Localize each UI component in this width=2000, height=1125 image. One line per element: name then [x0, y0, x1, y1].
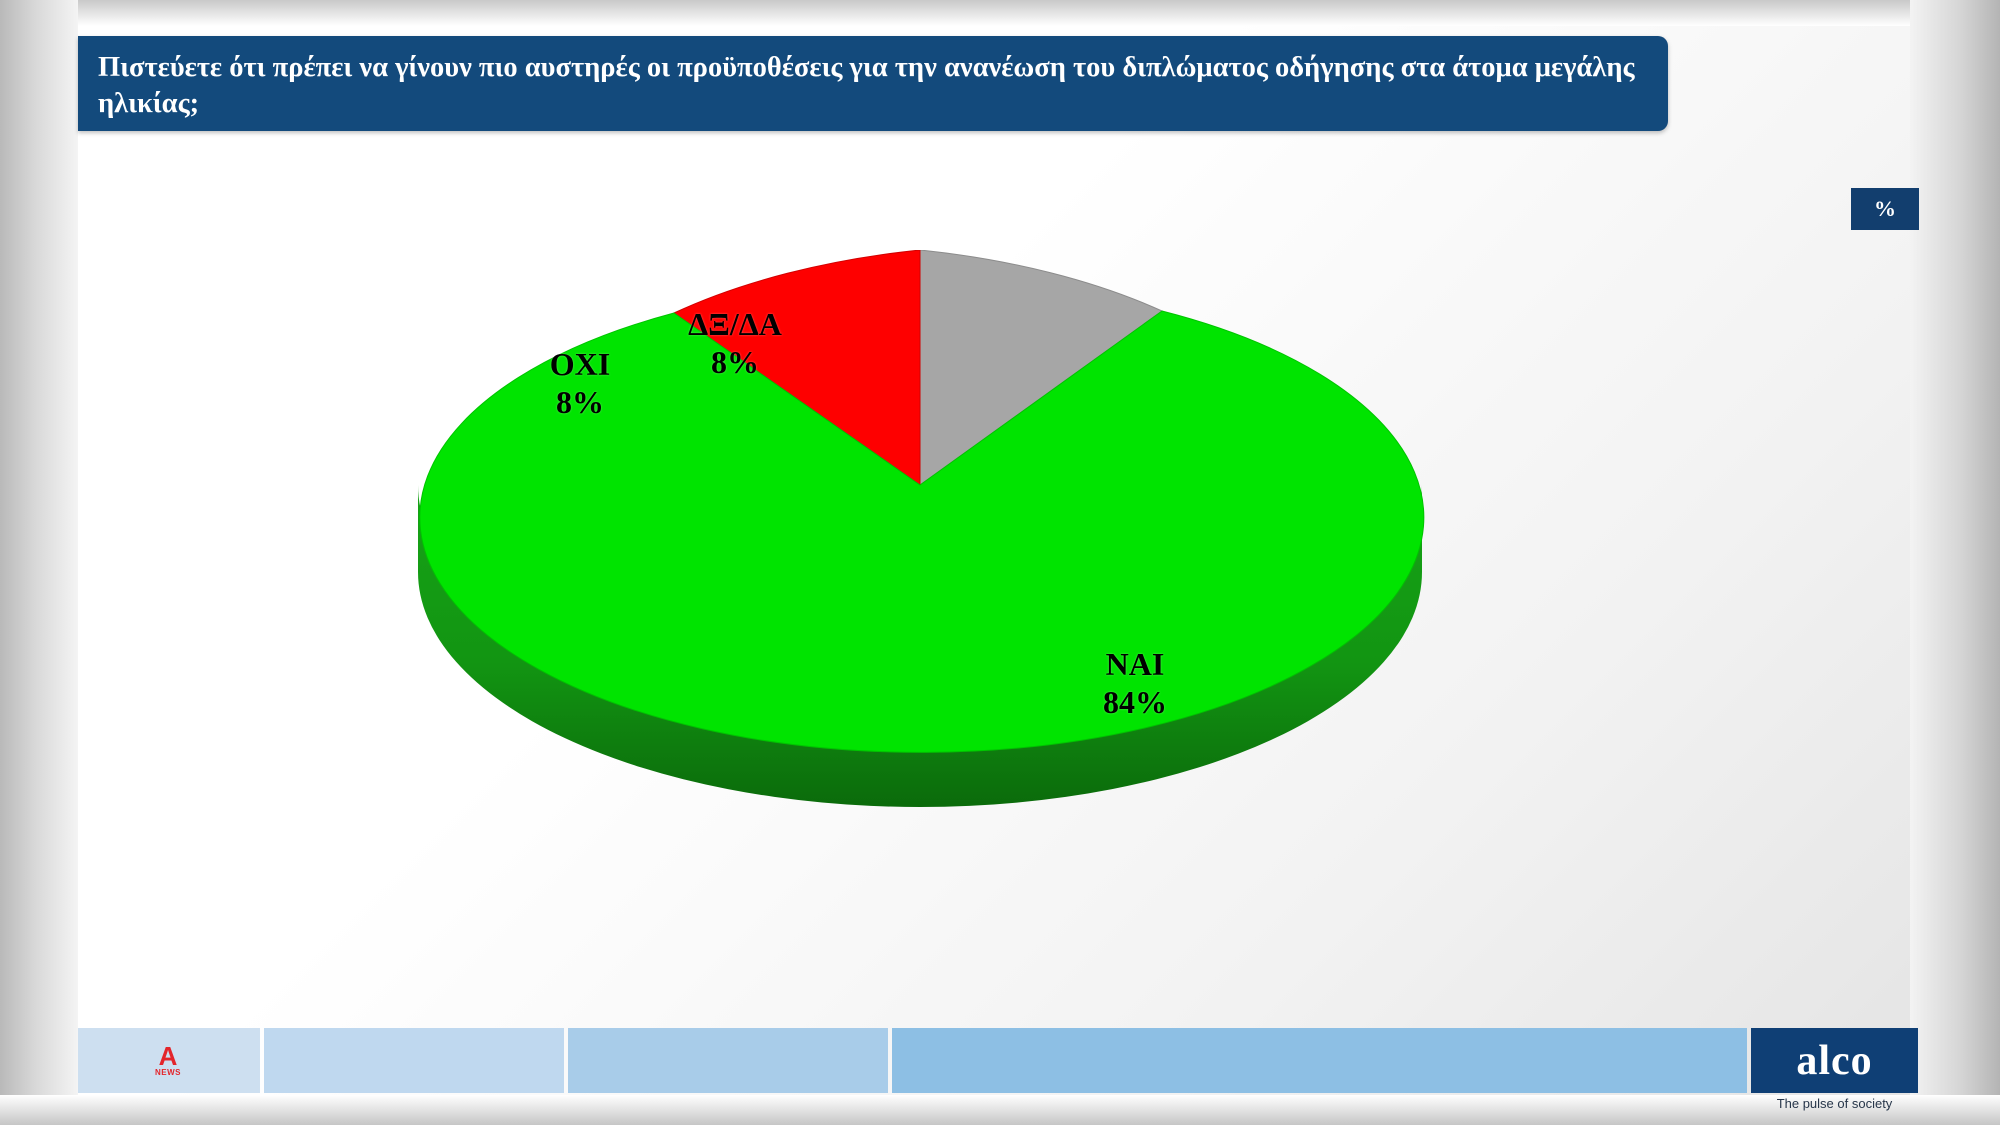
alco-tagline: The pulse of society [1751, 1096, 1918, 1111]
anews-label: NEWS [155, 1068, 181, 1077]
background-edge-right [1910, 0, 2000, 1125]
anews-logo: A NEWS [138, 1042, 198, 1080]
pie-chart-graphic: ΝΑΙ 84% ΟΧΙ 8% ΔΞ/ΔΑ 8% [400, 250, 1520, 950]
page-title: Πιστεύετε ότι πρέπει να γίνουν πιο αυστη… [98, 50, 1638, 123]
pie-label-no-value: 8% [505, 383, 655, 421]
footer-segment-1: A NEWS [78, 1028, 260, 1093]
background-edge-left [0, 0, 78, 1125]
alco-logo: alco [1751, 1028, 1918, 1093]
pie-chart: ΝΑΙ 84% ΟΧΙ 8% ΔΞ/ΔΑ 8% [400, 250, 1600, 950]
background-edge-top [0, 0, 2000, 26]
pie-label-yes-name: ΝΑΙ [1040, 645, 1230, 683]
background-edge-bottom [0, 1095, 2000, 1125]
pie-label-yes-value: 84% [1040, 683, 1230, 721]
footer-bar: A NEWS alco The pulse of society [78, 1028, 1918, 1093]
footer-segment-2 [264, 1028, 564, 1093]
pie-label-no: ΟΧΙ 8% [505, 345, 655, 422]
slide-root: Πιστεύετε ότι πρέπει να γίνουν πιο αυστη… [0, 0, 2000, 1125]
pie-label-dk: ΔΞ/ΔΑ 8% [640, 305, 830, 382]
pie-label-no-name: ΟΧΙ [505, 345, 655, 383]
anews-a-icon: A [159, 1045, 178, 1068]
pie-label-dk-name: ΔΞ/ΔΑ [640, 305, 830, 343]
percent-unit-badge: % [1851, 188, 1919, 230]
pie-label-yes: ΝΑΙ 84% [1040, 645, 1230, 722]
footer-segment-3 [568, 1028, 888, 1093]
footer-segment-4 [892, 1028, 1747, 1093]
title-bar: Πιστεύετε ότι πρέπει να γίνουν πιο αυστη… [78, 36, 1668, 131]
pie-label-dk-value: 8% [640, 343, 830, 381]
